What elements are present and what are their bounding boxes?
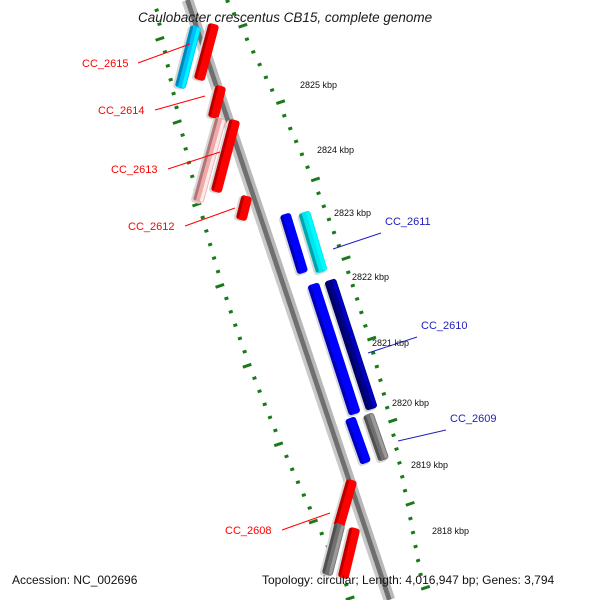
gene-label-cc_2609[interactable]: CC_2609 [450, 413, 496, 425]
label-leader-lines [138, 44, 446, 530]
gene-label-cc_2608[interactable]: CC_2608 [225, 525, 271, 537]
page-title: Caulobacter crescentus CB15, complete ge… [138, 10, 432, 25]
axis-tick-label: 2821 kbp [372, 338, 409, 348]
axis-tick-label: 2820 kbp [392, 398, 429, 408]
gene-label-cc_2613[interactable]: CC_2613 [111, 164, 157, 176]
gene-label-cc_2614[interactable]: CC_2614 [98, 105, 144, 117]
axis-tick-label: 2819 kbp [411, 460, 448, 470]
leader-line-forward [333, 233, 381, 249]
genome-map-canvas[interactable]: Caulobacter crescentus CB15, complete ge… [0, 0, 600, 600]
leader-line-reverse [185, 208, 235, 226]
leader-line-reverse [155, 96, 205, 110]
gene-block[interactable] [233, 194, 252, 223]
gene-label-cc_2610[interactable]: CC_2610 [421, 320, 467, 332]
axis-tick-label: 2818 kbp [432, 526, 469, 536]
leader-line-reverse [282, 513, 330, 530]
axis-tick-label: 2823 kbp [334, 208, 371, 218]
leader-line-forward [398, 430, 446, 441]
gene-label-cc_2612[interactable]: CC_2612 [128, 221, 174, 233]
axis-tick-label: 2822 kbp [352, 272, 389, 282]
genome-summary-status: Topology: circular; Length: 4,016,947 bp… [262, 573, 555, 587]
gene-label-cc_2611[interactable]: CC_2611 [385, 216, 431, 228]
axis-tick-label: 2825 kbp [300, 80, 337, 90]
accession-status: Accession: NC_002696 [12, 573, 138, 587]
gene-label-cc_2615[interactable]: CC_2615 [82, 58, 128, 70]
axis-tick-label: 2824 kbp [317, 145, 354, 155]
genome-viewer: Caulobacter crescentus CB15, complete ge… [0, 0, 600, 600]
